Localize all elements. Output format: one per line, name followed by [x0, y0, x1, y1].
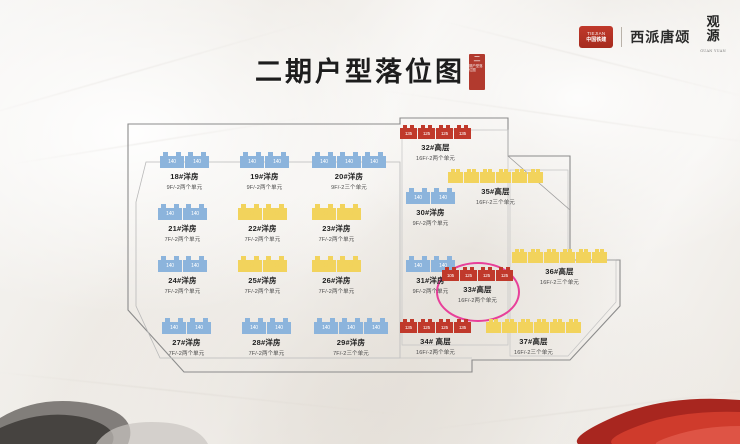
- unit-block: 140: [238, 260, 262, 272]
- building-25[interactable]: 14014025#洋房7F/-2两个单元: [238, 260, 287, 295]
- unit-block: 140: [263, 208, 287, 220]
- unit-block: 140: [312, 156, 336, 168]
- building-22[interactable]: 14014022#洋房7F/-2两个单元: [238, 208, 287, 243]
- building-22-spec: 7F/-2两个单元: [238, 235, 287, 243]
- building-35-name: 35#高层: [448, 186, 543, 197]
- seal-top-label: 二: [474, 56, 481, 64]
- tiejian-badge-icon: TIEJIAN 中国铁建: [579, 26, 613, 48]
- unit-block: 140: [185, 156, 209, 168]
- building-36-units: 115105105125105125: [512, 252, 607, 263]
- unit-block: 140: [240, 156, 264, 168]
- building-34-units: 135125125135: [400, 322, 471, 333]
- building-24-name: 24#洋房: [158, 275, 207, 286]
- building-23-spec: 7F/-2两个单元: [312, 235, 361, 243]
- building-27-units: 140140: [162, 322, 211, 334]
- marble-vein: [421, 386, 740, 431]
- building-33-units: 105125125125: [442, 270, 513, 281]
- unit-block: 140: [187, 322, 211, 334]
- building-34-name: 34# 高层: [400, 336, 471, 347]
- bottom-left-ribbon: [0, 388, 250, 444]
- sub-brand-line1: 观: [707, 16, 720, 30]
- unit-block: 125: [436, 128, 453, 139]
- building-28-units: 140140: [242, 322, 291, 334]
- building-26-name: 26#洋房: [312, 275, 361, 286]
- page-title: 二期户型落位图: [255, 50, 465, 89]
- building-26-spec: 7F/-2两个单元: [312, 287, 361, 295]
- building-24[interactable]: 14014024#洋房7F/-2两个单元: [158, 260, 207, 295]
- building-33-name: 33#高层: [442, 284, 513, 295]
- building-23[interactable]: 14014023#洋房7F/-2两个单元: [312, 208, 361, 243]
- building-24-units: 140140: [158, 260, 207, 272]
- unit-block: 105: [518, 322, 533, 333]
- unit-block: 140: [337, 156, 361, 168]
- unit-block: 125: [436, 322, 453, 333]
- brand-badge-bottom-label: 中国铁建: [586, 37, 606, 44]
- unit-block: 135: [454, 128, 471, 139]
- unit-block: 125: [478, 270, 495, 281]
- building-25-units: 140140: [238, 260, 287, 272]
- brand-badge-top-label: TIEJIAN: [587, 31, 605, 37]
- unit-block: 125: [528, 172, 543, 183]
- building-35-spec: 16F/-2三个单元: [448, 198, 543, 206]
- site-plan[interactable]: 14014018#洋房9F/-2两个单元14014019#洋房9F/-2两个单元…: [100, 110, 660, 380]
- building-34[interactable]: 13512512513534# 高层16F/-2两个单元: [400, 322, 471, 356]
- unit-block: 125: [418, 322, 435, 333]
- unit-block: 125: [566, 322, 581, 333]
- unit-block: 140: [158, 260, 182, 272]
- unit-block: 140: [238, 208, 262, 220]
- building-20-name: 20#洋房: [312, 171, 386, 182]
- building-37[interactable]: 11510510512510512537#高层16F/-2三个单元: [486, 322, 581, 356]
- unit-block: 140: [160, 156, 184, 168]
- building-27[interactable]: 14014027#洋房7F/-2两个单元: [162, 322, 211, 357]
- building-29-name: 29#洋房: [314, 337, 388, 348]
- building-28-spec: 7F/-2两个单元: [242, 349, 291, 357]
- logo-divider: [621, 27, 622, 47]
- building-24-spec: 7F/-2两个单元: [158, 287, 207, 295]
- unit-block: 140: [314, 322, 338, 334]
- building-32[interactable]: 13512512513532#高层16F/-2两个单元: [400, 128, 471, 162]
- unit-block: 125: [460, 270, 477, 281]
- building-37-units: 115105105125105125: [486, 322, 581, 333]
- page-background: TIEJIAN 中国铁建 西派唐颂 观 源 GUAN YUAN 二期户型落位图 …: [0, 0, 740, 444]
- sub-brand-line2: 源: [707, 30, 720, 44]
- building-21-name: 21#洋房: [158, 223, 207, 234]
- brand-name: 西派唐颂: [630, 27, 690, 47]
- unit-block: 140: [312, 260, 336, 272]
- unit-block: 140: [263, 260, 287, 272]
- building-32-spec: 16F/-2两个单元: [400, 154, 471, 162]
- red-seal-icon: 二 期户型落位图: [469, 54, 485, 90]
- unit-block: 140: [183, 260, 207, 272]
- building-18-spec: 9F/-2两个单元: [160, 183, 209, 191]
- unit-block: 125: [534, 322, 549, 333]
- seal-bottom-label: 期户型落位图: [469, 64, 485, 72]
- building-37-name: 37#高层: [486, 336, 581, 347]
- unit-block: 140: [337, 260, 361, 272]
- building-18-name: 18#洋房: [160, 171, 209, 182]
- building-36-name: 36#高层: [512, 266, 607, 277]
- building-27-name: 27#洋房: [162, 337, 211, 348]
- building-20-spec: 9F/-2三个单元: [312, 183, 386, 191]
- unit-block: 125: [496, 172, 511, 183]
- unit-block: 140: [406, 260, 430, 272]
- unit-block: 135: [400, 322, 417, 333]
- unit-block: 140: [362, 156, 386, 168]
- unit-block: 140: [242, 322, 266, 334]
- unit-block: 105: [550, 322, 565, 333]
- building-27-spec: 7F/-2两个单元: [162, 349, 211, 357]
- unit-block: 140: [406, 192, 430, 204]
- building-28-name: 28#洋房: [242, 337, 291, 348]
- building-33-spec: 16F/-2两个单元: [442, 296, 513, 304]
- building-35[interactable]: 11510510512510512535#高层16F/-2三个单元: [448, 172, 543, 206]
- building-29[interactable]: 14014014029#洋房7F/-2三个单元: [314, 322, 388, 357]
- unit-block: 140: [158, 208, 182, 220]
- building-34-spec: 16F/-2两个单元: [400, 348, 471, 356]
- building-32-units: 135125125135: [400, 128, 471, 139]
- building-20[interactable]: 14014014020#洋房9F/-2三个单元: [312, 156, 386, 191]
- unit-block: 105: [480, 172, 495, 183]
- unit-block: 115: [448, 172, 463, 183]
- building-36-spec: 16F/-2三个单元: [512, 278, 607, 286]
- building-35-units: 115105105125105125: [448, 172, 543, 183]
- unit-block: 115: [486, 322, 501, 333]
- building-29-units: 140140140: [314, 322, 388, 334]
- unit-block: 125: [496, 270, 513, 281]
- unit-block: 125: [418, 128, 435, 139]
- unit-block: 140: [183, 208, 207, 220]
- building-36[interactable]: 11510510512510512536#高层16F/-2三个单元: [512, 252, 607, 286]
- unit-block: 125: [560, 252, 575, 263]
- building-30-name: 30#洋房: [406, 207, 455, 218]
- building-25-name: 25#洋房: [238, 275, 287, 286]
- unit-block: 140: [265, 156, 289, 168]
- unit-block: 135: [400, 128, 417, 139]
- unit-block: 140: [162, 322, 186, 334]
- unit-block: 105: [464, 172, 479, 183]
- building-30-spec: 9F/-2两个单元: [406, 219, 455, 227]
- building-23-units: 140140: [312, 208, 361, 220]
- unit-block: 115: [512, 252, 527, 263]
- building-37-spec: 16F/-2三个单元: [486, 348, 581, 356]
- building-25-spec: 7F/-2两个单元: [238, 287, 287, 295]
- building-21-spec: 7F/-2两个单元: [158, 235, 207, 243]
- building-26-units: 140140: [312, 260, 361, 272]
- building-28[interactable]: 14014028#洋房7F/-2两个单元: [242, 322, 291, 357]
- unit-block: 140: [339, 322, 363, 334]
- unit-block: 105: [512, 172, 527, 183]
- building-19[interactable]: 14014019#洋房9F/-2两个单元: [240, 156, 289, 191]
- building-20-units: 140140140: [312, 156, 386, 168]
- building-19-spec: 9F/-2两个单元: [240, 183, 289, 191]
- unit-block: 125: [592, 252, 607, 263]
- building-22-units: 140140: [238, 208, 287, 220]
- unit-block: 135: [454, 322, 471, 333]
- unit-block: 105: [502, 322, 517, 333]
- unit-block: 140: [267, 322, 291, 334]
- building-22-name: 22#洋房: [238, 223, 287, 234]
- unit-block: 140: [312, 208, 336, 220]
- building-18-units: 140140: [160, 156, 209, 168]
- unit-block: 105: [576, 252, 591, 263]
- building-23-name: 23#洋房: [312, 223, 361, 234]
- building-21-units: 140140: [158, 208, 207, 220]
- unit-block: 105: [544, 252, 559, 263]
- building-21[interactable]: 14014021#洋房7F/-2两个单元: [158, 208, 207, 243]
- unit-block: 105: [528, 252, 543, 263]
- building-19-units: 140140: [240, 156, 289, 168]
- building-26[interactable]: 14014026#洋房7F/-2两个单元: [312, 260, 361, 295]
- unit-block: 105: [442, 270, 459, 281]
- unit-block: 140: [364, 322, 388, 334]
- building-32-name: 32#高层: [400, 142, 471, 153]
- building-18[interactable]: 14014018#洋房9F/-2两个单元: [160, 156, 209, 191]
- building-33[interactable]: 10512512512533#高层16F/-2两个单元: [442, 270, 513, 304]
- building-19-name: 19#洋房: [240, 171, 289, 182]
- building-29-spec: 7F/-2三个单元: [314, 349, 388, 357]
- title-block: 二期户型落位图 二 期户型落位图: [0, 50, 740, 90]
- unit-block: 140: [337, 208, 361, 220]
